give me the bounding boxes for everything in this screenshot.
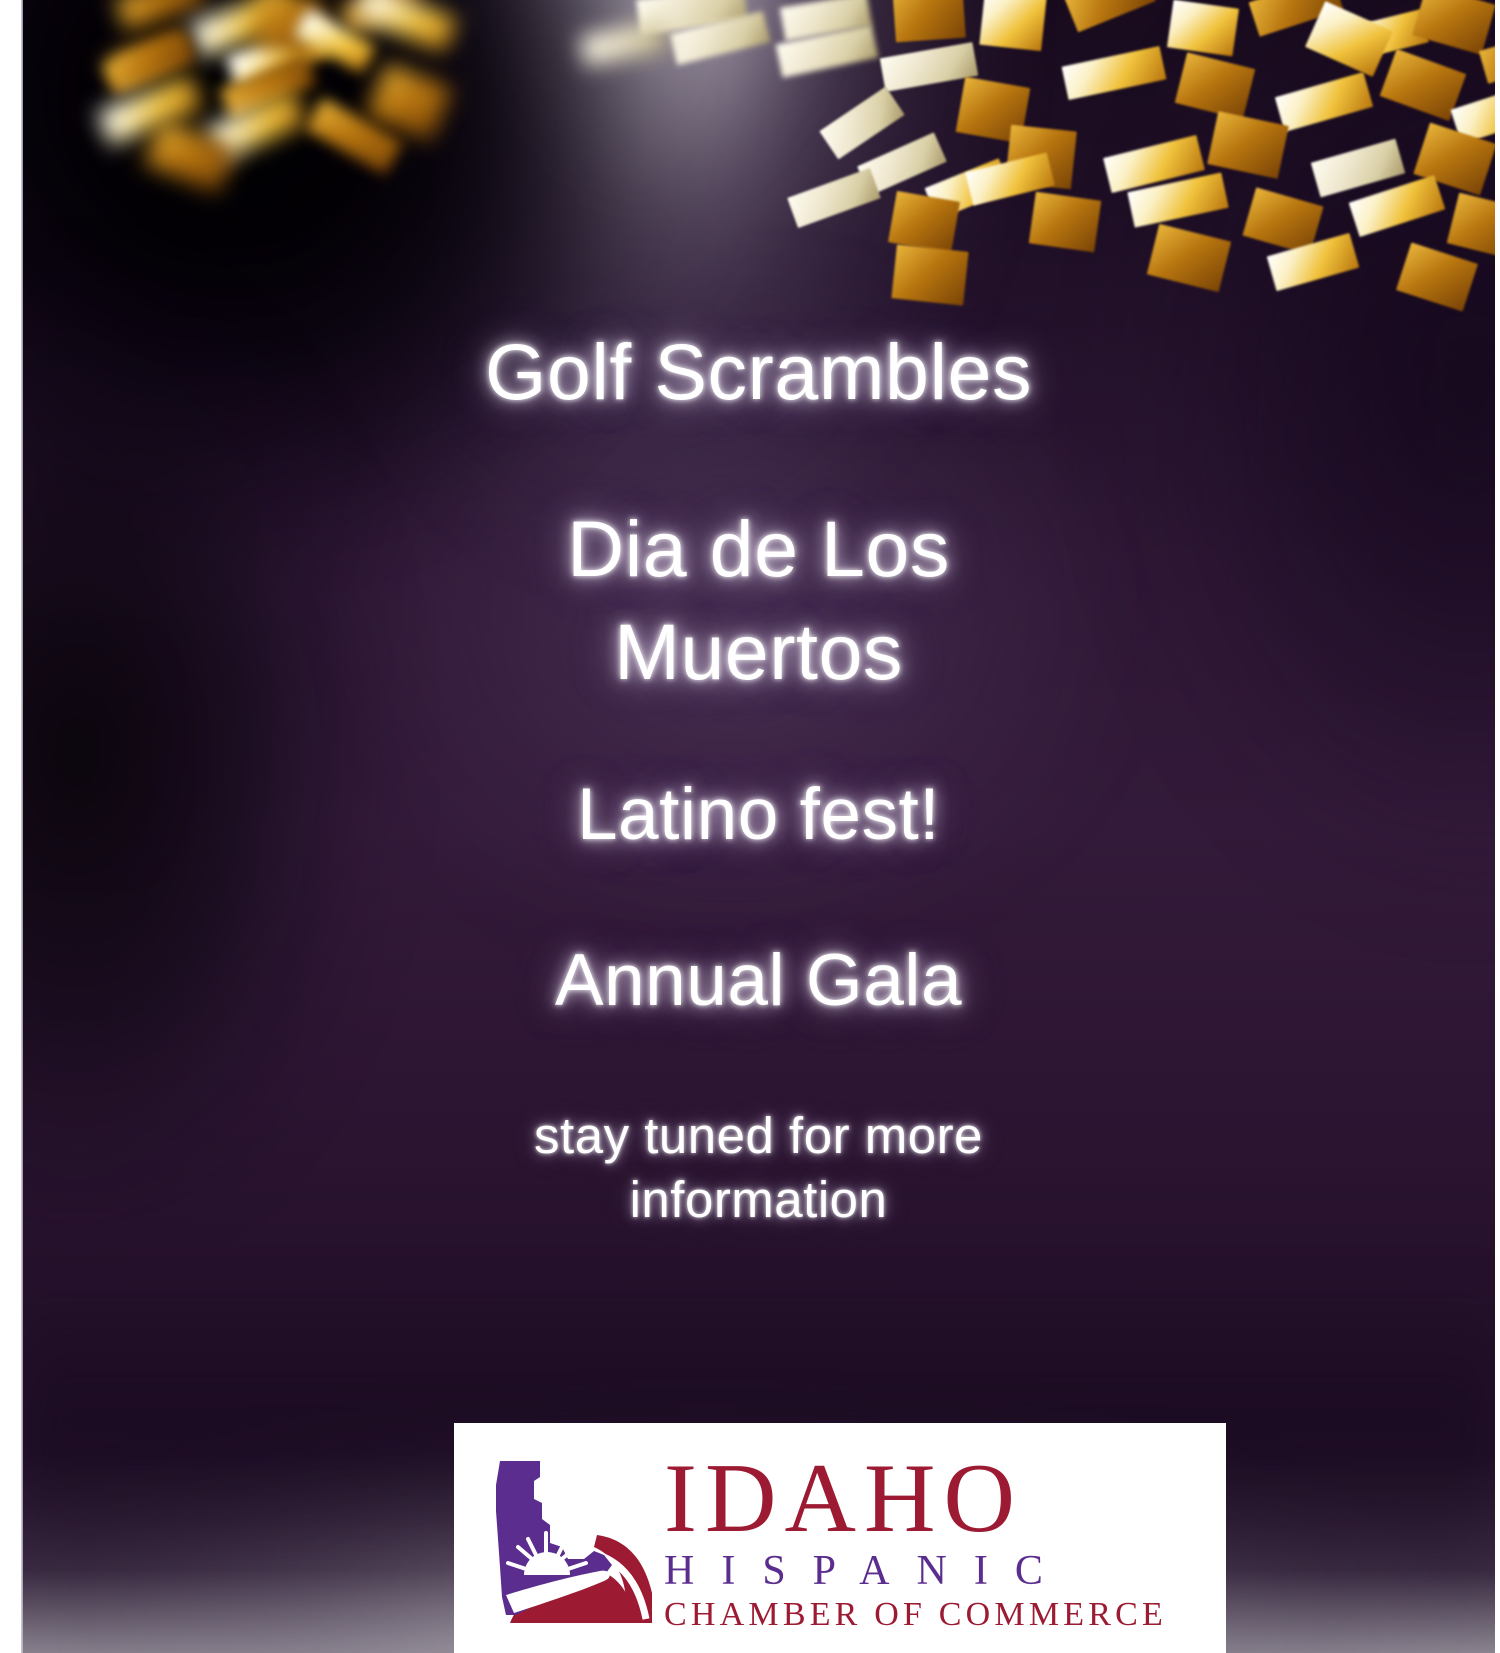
chamber-logo-wordmark: IDAHO HISPANIC CHAMBER OF COMMERCE [664,1451,1226,1632]
page-edge-hairline-left [21,0,23,1653]
chamber-logo-panel: IDAHO HISPANIC CHAMBER OF COMMERCE [454,1423,1226,1653]
event-poster: Golf Scrambles Dia de Los Muertos Latino… [0,0,1500,1653]
logo-hispanic-text: HISPANIC [664,1550,1226,1594]
idaho-state-sunrise-hand-icon [476,1447,660,1635]
headline-golf-scrambles: Golf Scrambles [22,330,1495,414]
headline-annual-gala: Annual Gala [22,942,1495,1019]
page-edge-right [1495,0,1500,1653]
page-edge-left [0,0,22,1653]
logo-chamber-text: CHAMBER OF COMMERCE [664,1598,1226,1632]
headline-latino-fest: Latino fest! [22,776,1495,853]
subtext-stay-tuned: stay tuned for more information [22,1104,1495,1233]
poster-copy: Golf Scrambles Dia de Los Muertos Latino… [22,0,1495,1653]
logo-idaho-text: IDAHO [664,1451,1226,1546]
headline-dia-de-los-muertos: Dia de Los Muertos [22,498,1495,703]
